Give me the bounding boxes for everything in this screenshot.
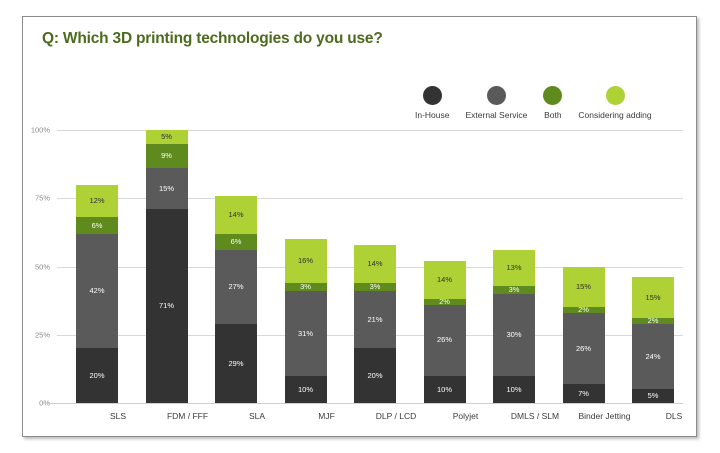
y-axis-tick-label: 100% bbox=[31, 126, 50, 135]
bar-segment[interactable]: 5% bbox=[632, 389, 674, 403]
bar-value-label: 10% bbox=[437, 386, 452, 394]
legend-item[interactable]: Considering adding bbox=[578, 86, 651, 120]
bar-stack[interactable]: 15%2%24%5% bbox=[632, 277, 674, 403]
bar-value-label: 24% bbox=[645, 353, 660, 361]
bar-segment[interactable]: 3% bbox=[493, 286, 535, 294]
bar-segment[interactable]: 6% bbox=[76, 217, 118, 233]
chart-legend: In-HouseExternal ServiceBothConsidering … bbox=[415, 86, 652, 122]
bar-stack[interactable]: 14%2%26%10% bbox=[424, 261, 466, 403]
bar-series-container: 12%6%42%20%SLS5%9%15%71%FDM / FFF14%6%27… bbox=[57, 130, 683, 403]
bar-value-label: 14% bbox=[367, 260, 382, 268]
bar-segment[interactable]: 30% bbox=[493, 294, 535, 376]
bar-segment[interactable]: 10% bbox=[493, 376, 535, 403]
bar-value-label: 29% bbox=[228, 360, 243, 368]
bar-segment[interactable]: 9% bbox=[146, 144, 188, 169]
bar-segment[interactable]: 26% bbox=[424, 305, 466, 376]
bar-segment[interactable]: 71% bbox=[146, 209, 188, 403]
bar-stack[interactable]: 15%2%26%7% bbox=[563, 267, 605, 403]
bar-segment[interactable]: 42% bbox=[76, 234, 118, 349]
bar-segment[interactable]: 10% bbox=[424, 376, 466, 403]
bar-value-label: 30% bbox=[506, 331, 521, 339]
legend-label: Both bbox=[544, 110, 562, 120]
page-title: Q: Which 3D printing technologies do you… bbox=[42, 30, 383, 48]
bar-segment[interactable]: 16% bbox=[285, 239, 327, 283]
bar-value-label: 16% bbox=[298, 257, 313, 265]
bar-stack[interactable]: 14%3%21%20% bbox=[354, 245, 396, 403]
chart-screenshot: Q: Which 3D printing technologies do you… bbox=[0, 0, 720, 453]
bar-value-label: 9% bbox=[161, 152, 172, 160]
bar-value-label: 20% bbox=[367, 372, 382, 380]
bar-segment[interactable]: 3% bbox=[285, 283, 327, 291]
legend-swatch-icon bbox=[543, 86, 562, 105]
y-axis-tick-label: 50% bbox=[35, 262, 50, 271]
bar-stack[interactable]: 13%3%30%10% bbox=[493, 250, 535, 403]
bar-segment[interactable]: 5% bbox=[146, 130, 188, 144]
legend-swatch-icon bbox=[487, 86, 506, 105]
bar-segment[interactable]: 31% bbox=[285, 291, 327, 376]
bar-segment[interactable]: 3% bbox=[354, 283, 396, 291]
bar-stack[interactable]: 12%6%42%20% bbox=[76, 185, 118, 403]
bar-segment[interactable]: 24% bbox=[632, 324, 674, 390]
bar-value-label: 26% bbox=[437, 336, 452, 344]
y-axis-tick-label: 25% bbox=[35, 330, 50, 339]
legend-label: In-House bbox=[415, 110, 450, 120]
bar-value-label: 10% bbox=[298, 386, 313, 394]
bar-value-label: 15% bbox=[576, 283, 591, 291]
legend-swatch-icon bbox=[423, 86, 442, 105]
bar-value-label: 3% bbox=[370, 283, 381, 291]
bar-value-label: 6% bbox=[92, 222, 103, 230]
bar-value-label: 20% bbox=[89, 372, 104, 380]
legend-label: External Service bbox=[466, 110, 528, 120]
bar-segment[interactable]: 21% bbox=[354, 291, 396, 348]
bar-value-label: 6% bbox=[231, 238, 242, 246]
bar-segment[interactable]: 15% bbox=[146, 168, 188, 209]
bar-value-label: 26% bbox=[576, 345, 591, 353]
bar-segment[interactable]: 27% bbox=[215, 250, 257, 324]
plot-area: 0%25%50%75%100% 12%6%42%20%SLS5%9%15%71%… bbox=[57, 130, 683, 403]
bar-value-label: 27% bbox=[228, 283, 243, 291]
bar-value-label: 42% bbox=[89, 287, 104, 295]
bar-segment[interactable]: 13% bbox=[493, 250, 535, 285]
bar-stack[interactable]: 16%3%31%10% bbox=[285, 239, 327, 403]
bar-segment[interactable]: 26% bbox=[563, 313, 605, 384]
bar-value-label: 3% bbox=[300, 283, 311, 291]
axis-baseline bbox=[43, 403, 683, 404]
bar-segment[interactable]: 20% bbox=[354, 348, 396, 403]
bar-segment[interactable]: 6% bbox=[215, 234, 257, 250]
bar-value-label: 14% bbox=[228, 211, 243, 219]
bar-value-label: 5% bbox=[161, 133, 172, 141]
bar-value-label: 7% bbox=[578, 390, 589, 398]
legend-item[interactable]: External Service bbox=[466, 86, 528, 120]
bar-value-label: 10% bbox=[506, 386, 521, 394]
bar-segment[interactable]: 20% bbox=[76, 348, 118, 403]
bar-segment[interactable]: 29% bbox=[215, 324, 257, 403]
bar-value-label: 21% bbox=[367, 316, 382, 324]
bar-segment[interactable]: 14% bbox=[354, 245, 396, 283]
y-axis-tick-label: 75% bbox=[35, 194, 50, 203]
bar-segment[interactable]: 10% bbox=[285, 376, 327, 403]
bar-stack[interactable]: 14%6%27%29% bbox=[215, 196, 257, 403]
x-axis-tick-label: DLS bbox=[624, 411, 720, 421]
bar-stack[interactable]: 5%9%15%71% bbox=[146, 130, 188, 403]
bar-segment[interactable]: 15% bbox=[563, 267, 605, 308]
legend-item[interactable]: Both bbox=[543, 86, 562, 120]
bar-segment[interactable]: 12% bbox=[76, 185, 118, 218]
bar-segment[interactable]: 15% bbox=[632, 277, 674, 318]
legend-label: Considering adding bbox=[578, 110, 651, 120]
bar-value-label: 5% bbox=[648, 392, 659, 400]
bar-value-label: 12% bbox=[89, 197, 104, 205]
bar-value-label: 71% bbox=[159, 302, 174, 310]
bar-value-label: 15% bbox=[645, 294, 660, 302]
bar-segment[interactable]: 7% bbox=[563, 384, 605, 403]
bar-value-label: 15% bbox=[159, 185, 174, 193]
bar-segment[interactable]: 14% bbox=[424, 261, 466, 299]
bar-value-label: 3% bbox=[509, 286, 520, 294]
legend-swatch-icon bbox=[606, 86, 625, 105]
bar-value-label: 13% bbox=[506, 264, 521, 272]
legend-item[interactable]: In-House bbox=[415, 86, 450, 120]
bar-value-label: 14% bbox=[437, 276, 452, 284]
bar-segment[interactable]: 14% bbox=[215, 196, 257, 234]
bar-value-label: 31% bbox=[298, 330, 313, 338]
